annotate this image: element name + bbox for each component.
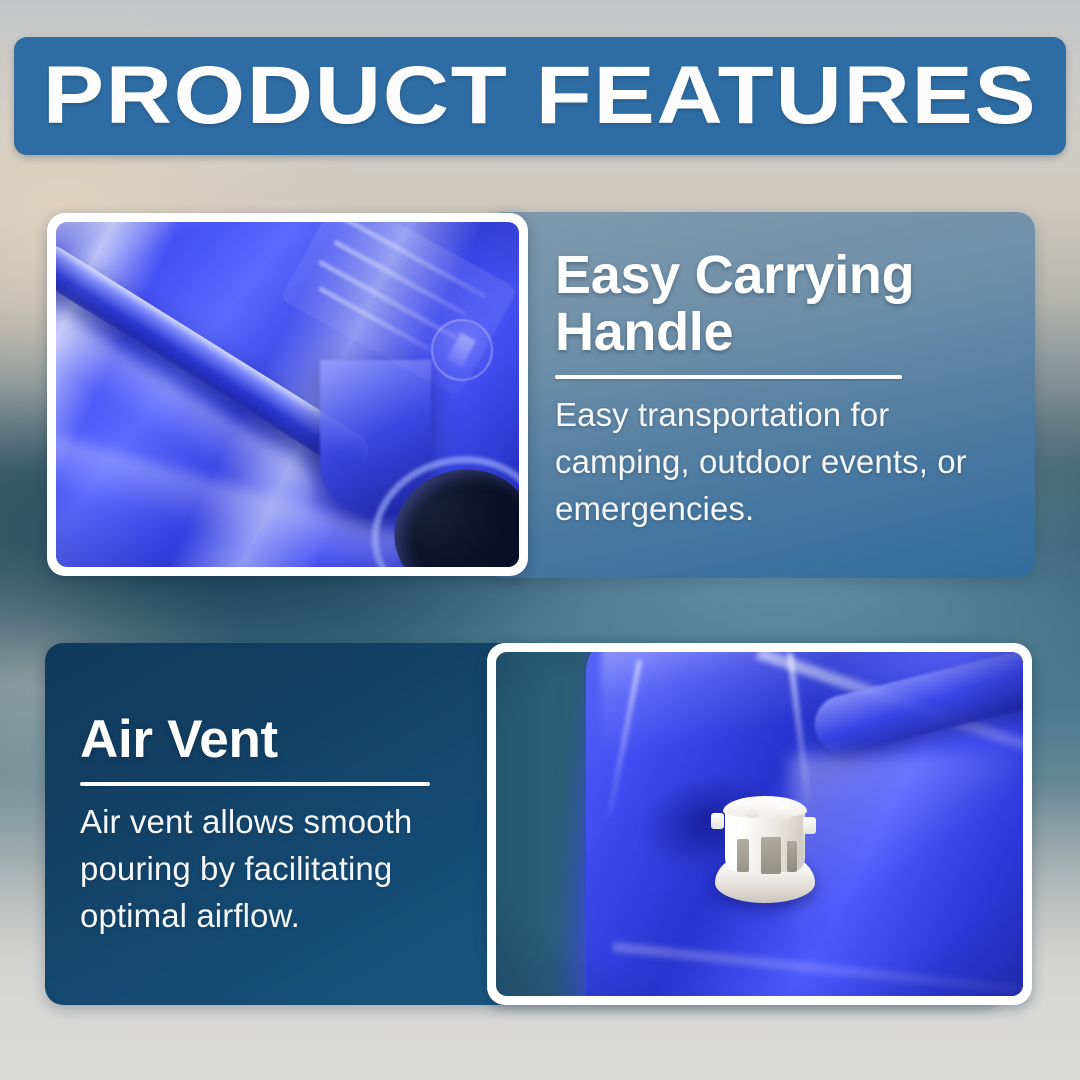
feature-description: Air vent allows smooth pouring by facili… xyxy=(80,799,480,940)
feature-description: Easy transportation for camping, outdoor… xyxy=(555,392,985,533)
infographic-canvas: PRODUCT FEATURES Easy Carrying Handle xyxy=(0,0,1080,1080)
feature-text-easy-carrying-handle: Easy Carrying Handle Easy transportation… xyxy=(555,247,985,533)
feature-image-easy-carrying-handle xyxy=(47,213,528,576)
photo-vignette xyxy=(56,222,519,567)
page-title: PRODUCT FEATURES xyxy=(43,55,1038,137)
photo-vignette xyxy=(496,652,1023,996)
header-bar: PRODUCT FEATURES xyxy=(14,37,1066,155)
feature-text-air-vent: Air Vent Air vent allows smooth pouring … xyxy=(80,712,480,940)
heading-divider xyxy=(555,375,902,379)
feature-heading: Air Vent xyxy=(80,712,480,768)
feature-image-air-vent xyxy=(487,643,1032,1005)
heading-divider xyxy=(80,782,430,786)
feature-heading: Easy Carrying Handle xyxy=(555,247,985,361)
